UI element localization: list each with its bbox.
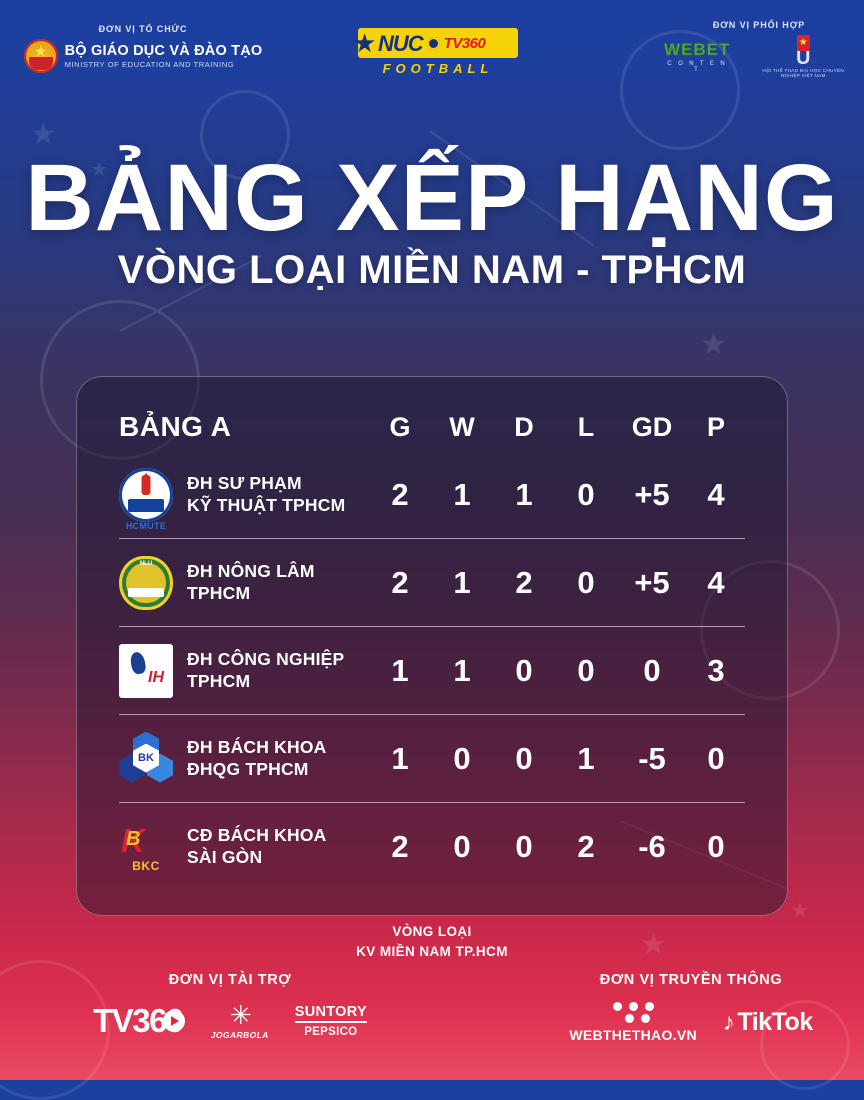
hcmute-logo-text: HCMUTE: [119, 521, 173, 531]
sponsor-label: ĐƠN VỊ TÀI TRỢ: [40, 972, 420, 988]
cooperation-label: ĐƠN VỊ PHỐI HỢP: [664, 20, 854, 30]
stat-l: 0: [555, 477, 617, 513]
team-name-line2: SÀI GÒN: [187, 847, 326, 869]
column-header-p: P: [687, 412, 745, 443]
table-row[interactable]: NLU ĐH NÔNG LÂM TPHCM 2 1 2 0 +5 4: [119, 539, 745, 627]
stat-p: 3: [687, 653, 745, 689]
stat-p: 4: [687, 565, 745, 601]
bkc-logo: KB BKC: [119, 820, 173, 874]
vietnam-flag-icon: [797, 35, 810, 51]
cooperation-block: ĐƠN VỊ PHỐI HỢP WEBET C O N T E N T U HỘ…: [664, 20, 854, 78]
pepsico-text: PEPSICO: [295, 1026, 367, 1038]
stat-d: 2: [493, 565, 555, 601]
stat-l: 2: [555, 829, 617, 865]
bach-khoa-logo: BK: [119, 732, 173, 786]
nong-lam-university-logo: NLU: [119, 556, 173, 610]
stat-p: 0: [687, 829, 745, 865]
column-header-l: L: [555, 412, 617, 443]
stat-gd: -6: [617, 829, 687, 865]
organizer-block: ĐƠN VỊ TỔ CHỨC BỘ GIÁO DỤC VÀ ĐÀO TẠO MI…: [18, 24, 268, 73]
tv360-logo: TV360: [93, 1002, 185, 1040]
soccer-ball-icon: [427, 37, 440, 50]
stat-d: 0: [493, 653, 555, 689]
stat-p: 0: [687, 741, 745, 777]
team-name-line1: ĐH NÔNG LÂM: [187, 561, 315, 583]
webet-mark: WEBET: [664, 40, 730, 60]
play-icon: [163, 1010, 185, 1032]
team-name-line2: KỸ THUẬT TPHCM: [187, 495, 345, 517]
league-logo-football: FOOTBALL: [358, 61, 518, 76]
vietnam-emblem-icon: [24, 39, 58, 73]
league-logo: ★ NUC TV360 FOOTBALL: [358, 28, 518, 76]
stat-l: 0: [555, 565, 617, 601]
university-sports-association-logo: U HỘI THỂ THAO ĐẠI HỌC CHUYÊN NGHIỆP VIỆ…: [752, 35, 854, 78]
stat-l: 0: [555, 653, 617, 689]
suntory-pepsico-logo: SUNTORY PEPSICO: [295, 1004, 367, 1038]
column-header-g: G: [369, 412, 431, 443]
page-title: BẢNG XẾP HẠNG: [0, 155, 864, 242]
dots-icon: [569, 1002, 697, 1023]
caption-line2: KV MIỀN NAM TP.HCM: [0, 942, 864, 962]
column-header-gd: GD: [617, 412, 687, 443]
jogarbola-mark: ✳: [211, 1002, 269, 1028]
stat-w: 1: [431, 477, 493, 513]
u-sub: HỘI THỂ THAO ĐẠI HỌC CHUYÊN NGHIỆP VIỆT …: [752, 68, 854, 78]
stat-w: 1: [431, 653, 493, 689]
hcmute-logo: ♦ HCMUTE: [119, 468, 173, 522]
column-header-w: W: [431, 412, 493, 443]
team-name-line2: TPHCM: [187, 671, 344, 693]
webthethao-text: WEBTHETHAO.VN: [569, 1027, 697, 1043]
organizer-label: ĐƠN VỊ TỔ CHỨC: [18, 24, 268, 34]
suntory-text: SUNTORY: [295, 1004, 367, 1023]
team-name-line2: TPHCM: [187, 583, 315, 605]
star-icon: ★: [353, 30, 376, 56]
group-label: BẢNG A: [119, 411, 231, 443]
stat-d: 1: [493, 477, 555, 513]
table-row[interactable]: ♦ HCMUTE ĐH SƯ PHẠM KỸ THUẬT TPHCM 2 1 1…: [119, 451, 745, 539]
nlu-logo-text: NLU: [119, 561, 173, 567]
webthethao-logo: WEBTHETHAO.VN: [569, 1002, 697, 1043]
stat-gd: +5: [617, 477, 687, 513]
webet-sub: C O N T E N T: [664, 61, 730, 73]
stat-l: 1: [555, 741, 617, 777]
team-name: ĐH NÔNG LÂM TPHCM: [187, 561, 315, 605]
caption: VÒNG LOẠI KV MIỀN NAM TP.HCM: [0, 922, 864, 961]
stat-w: 0: [431, 829, 493, 865]
team-name: CĐ BÁCH KHOA SÀI GÒN: [187, 825, 326, 869]
header: ĐƠN VỊ TỔ CHỨC BỘ GIÁO DỤC VÀ ĐÀO TẠO MI…: [0, 0, 864, 92]
iuh-logo: IH: [119, 644, 173, 698]
stat-gd: +5: [617, 565, 687, 601]
sponsors-block: ĐƠN VỊ TÀI TRỢ TV360 ✳ JOGARBOLA SUNTORY…: [40, 972, 420, 1040]
footer: ĐƠN VỊ TÀI TRỢ TV360 ✳ JOGARBOLA SUNTORY…: [0, 962, 864, 1080]
stat-p: 4: [687, 477, 745, 513]
standings-panel: BẢNG A G W D L GD P ♦ HCMUTE ĐH SƯ PHẠM …: [76, 376, 788, 916]
table-header: BẢNG A G W D L GD P: [119, 403, 745, 451]
team-name: ĐH SƯ PHẠM KỸ THUẬT TPHCM: [187, 473, 345, 517]
team-name-line1: ĐH CÔNG NGHIỆP: [187, 649, 344, 671]
webet-content-logo: WEBET C O N T E N T: [664, 40, 730, 73]
page-subtitle: VÒNG LOẠI MIỀN NAM - TPHCM: [0, 248, 864, 293]
stat-w: 0: [431, 741, 493, 777]
team-name-line2: ĐHQG TPHCM: [187, 759, 326, 781]
jogarbola-text: JOGARBOLA: [211, 1030, 269, 1040]
stat-d: 0: [493, 829, 555, 865]
team-name-line1: ĐH BÁCH KHOA: [187, 737, 326, 759]
stat-g: 1: [369, 653, 431, 689]
stat-gd: -5: [617, 741, 687, 777]
tv360-mark: TV360: [444, 35, 486, 52]
title-block: BẢNG XẾP HẠNG VÒNG LOẠI MIỀN NAM - TPHCM: [0, 155, 864, 293]
team-name-line1: CĐ BÁCH KHOA: [187, 825, 326, 847]
stat-gd: 0: [617, 653, 687, 689]
stat-g: 2: [369, 477, 431, 513]
column-header-d: D: [493, 412, 555, 443]
music-note-icon: ♪: [723, 1009, 735, 1037]
stat-g: 1: [369, 741, 431, 777]
stat-g: 2: [369, 565, 431, 601]
jogarbola-logo: ✳ JOGARBOLA: [211, 1002, 269, 1040]
organizer-subtitle: MINISTRY OF EDUCATION AND TRAINING: [65, 60, 263, 69]
media-block: ĐƠN VỊ TRUYỀN THÔNG WEBTHETHAO.VN ♪ TikT…: [536, 972, 846, 1043]
team-name: ĐH BÁCH KHOA ĐHQG TPHCM: [187, 737, 326, 781]
team-name-line1: ĐH SƯ PHẠM: [187, 473, 345, 495]
team-name: ĐH CÔNG NGHIỆP TPHCM: [187, 649, 344, 693]
table-row[interactable]: IH ĐH CÔNG NGHIỆP TPHCM 1 1 0 0 0 3: [119, 627, 745, 715]
stat-w: 1: [431, 565, 493, 601]
bkc-logo-text: BKC: [119, 859, 173, 873]
table-row[interactable]: BK ĐH BÁCH KHOA ĐHQG TPHCM 1 0 0 1 -5 0: [119, 715, 745, 803]
tiktok-text: TikTok: [737, 1008, 812, 1037]
caption-line1: VÒNG LOẠI: [0, 922, 864, 942]
iuh-logo-text: IH: [148, 669, 164, 687]
u-mark: U: [752, 49, 854, 67]
organizer-name: BỘ GIÁO DỤC VÀ ĐÀO TẠO: [65, 43, 263, 59]
league-logo-word: NUC: [378, 31, 423, 57]
table-row[interactable]: KB BKC CĐ BÁCH KHOA SÀI GÒN 2 0 0 2 -6 0: [119, 803, 745, 891]
tiktok-logo: ♪ TikTok: [723, 1008, 813, 1037]
stat-d: 0: [493, 741, 555, 777]
media-label: ĐƠN VỊ TRUYỀN THÔNG: [536, 972, 846, 988]
stat-g: 2: [369, 829, 431, 865]
